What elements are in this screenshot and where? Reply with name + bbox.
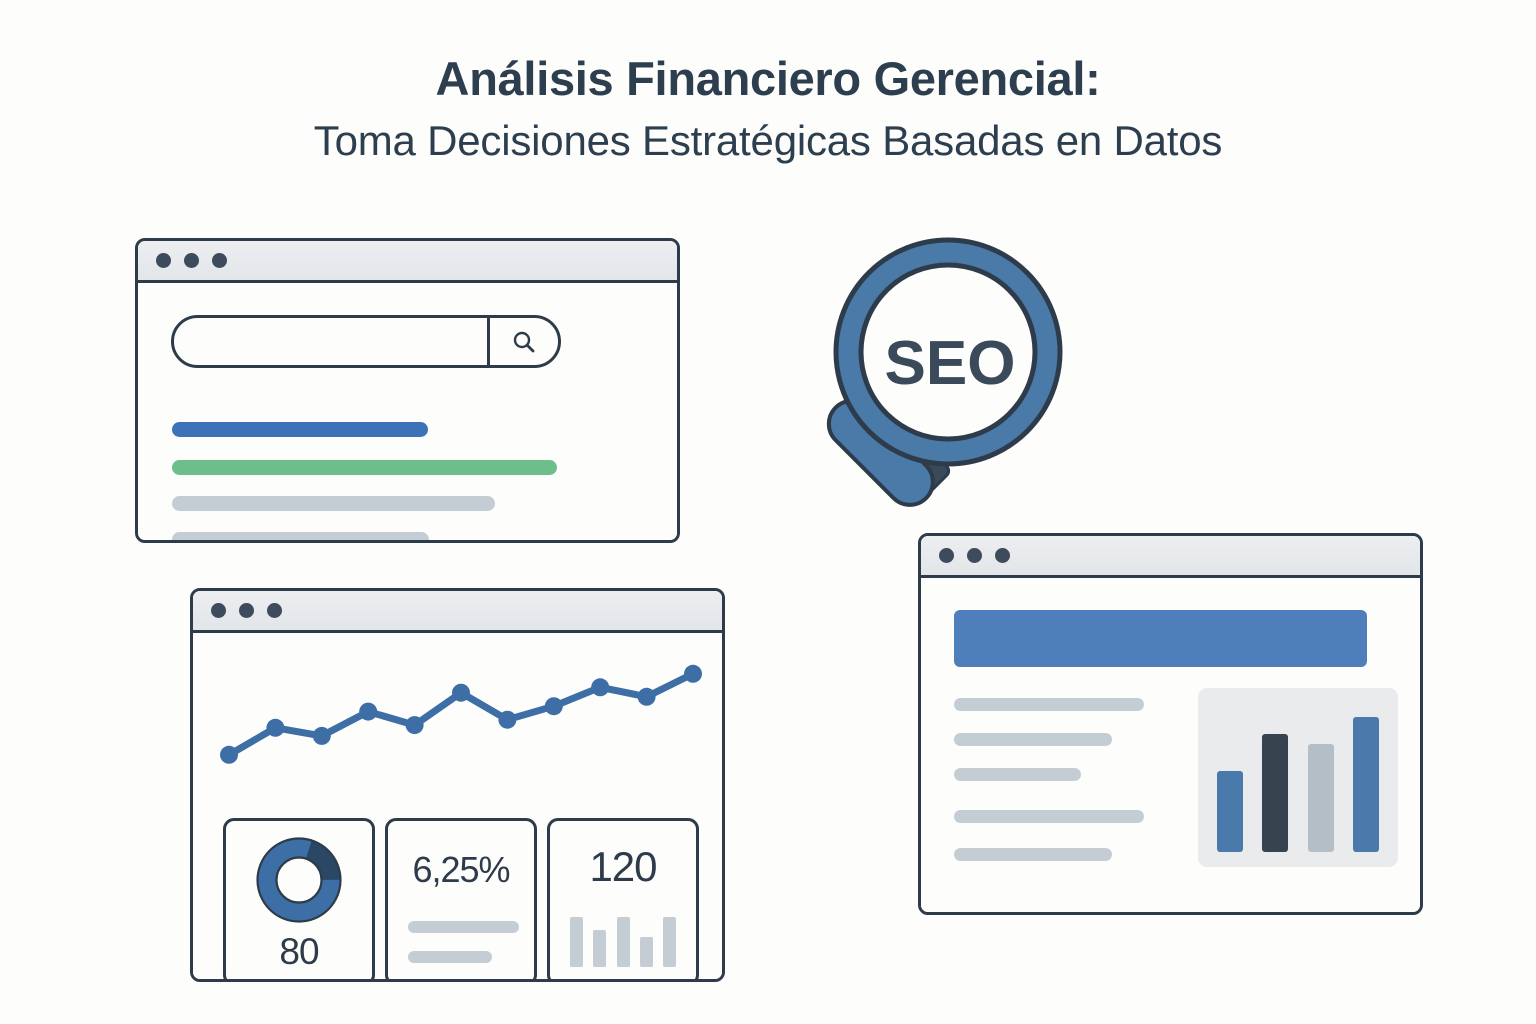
maximize-dot-icon[interactable] xyxy=(212,253,227,268)
count-kpi-value: 120 xyxy=(550,843,696,891)
search-result-bar-secondary[interactable] xyxy=(172,460,557,475)
report-bar xyxy=(1308,744,1334,852)
trend-data-point xyxy=(545,697,563,715)
report-bar xyxy=(1217,771,1243,852)
trend-data-point xyxy=(591,678,609,696)
percent-kpi-placeholder-line-2 xyxy=(408,951,492,963)
search-bar xyxy=(171,315,561,368)
page-title: Análisis Financiero Gerencial: Toma Deci… xyxy=(0,52,1536,169)
report-bar-chart xyxy=(1217,704,1379,852)
trend-data-point xyxy=(684,665,702,683)
report-text-line-2 xyxy=(954,733,1112,746)
count-kpi-card[interactable]: 120 xyxy=(547,818,699,982)
trend-data-point xyxy=(266,719,284,737)
window-titlebar xyxy=(138,241,677,283)
trend-data-point xyxy=(452,684,470,702)
maximize-dot-icon[interactable] xyxy=(995,548,1010,563)
search-submit-button[interactable] xyxy=(490,318,558,365)
analytics-dashboard-browser-window: 80 6,25% 120 xyxy=(190,588,725,982)
donut-icon xyxy=(254,835,344,925)
magnifying-glass-icon xyxy=(775,232,1125,577)
donut-kpi-value: 80 xyxy=(226,931,372,973)
maximize-dot-icon[interactable] xyxy=(267,603,282,618)
trend-data-point xyxy=(406,716,424,734)
minimize-dot-icon[interactable] xyxy=(184,253,199,268)
percent-kpi-placeholder-line-1 xyxy=(408,921,519,933)
kpi-card-row: 80 6,25% 120 xyxy=(223,818,701,982)
sparkline-bar xyxy=(617,917,630,967)
donut-kpi-card[interactable]: 80 xyxy=(223,818,375,982)
window-content xyxy=(921,578,1420,912)
report-text-line-4 xyxy=(954,810,1144,823)
trend-line-chart xyxy=(211,647,711,787)
percent-kpi-card[interactable]: 6,25% xyxy=(385,818,537,982)
window-titlebar xyxy=(921,536,1420,578)
trend-data-point xyxy=(359,703,377,721)
window-titlebar xyxy=(193,591,722,633)
search-results-browser-window xyxy=(135,238,680,543)
sparkline-bar xyxy=(640,937,653,967)
report-bar xyxy=(1353,717,1379,852)
sparkline-bar xyxy=(663,917,676,967)
close-dot-icon[interactable] xyxy=(156,253,171,268)
seo-magnifier-graphic: SEO xyxy=(775,232,1125,577)
search-input[interactable] xyxy=(174,318,490,365)
trend-data-point xyxy=(498,711,516,729)
search-result-bar-placeholder-1 xyxy=(172,496,495,511)
report-browser-window xyxy=(918,533,1423,915)
window-content: 80 6,25% 120 xyxy=(193,633,722,979)
close-dot-icon[interactable] xyxy=(939,548,954,563)
report-bar xyxy=(1262,734,1288,852)
report-text-line-1 xyxy=(954,698,1144,711)
trend-data-point xyxy=(220,746,238,764)
report-text-line-5 xyxy=(954,848,1112,861)
donut-chart xyxy=(254,835,344,925)
sparkline-bar xyxy=(593,930,606,967)
minimize-dot-icon[interactable] xyxy=(239,603,254,618)
page-title-line-1: Análisis Financiero Gerencial: xyxy=(0,52,1536,106)
minimize-dot-icon[interactable] xyxy=(967,548,982,563)
search-result-bar-primary[interactable] xyxy=(172,422,428,437)
search-icon xyxy=(511,329,537,355)
sparkline-mini-bar-chart xyxy=(570,912,676,967)
report-chart-panel xyxy=(1198,688,1398,867)
sparkline-bar xyxy=(570,917,583,967)
trend-data-points xyxy=(220,665,702,764)
percent-kpi-value: 6,25% xyxy=(388,849,534,891)
window-content xyxy=(138,283,677,540)
search-result-bar-placeholder-2 xyxy=(172,532,429,543)
report-text-line-3 xyxy=(954,768,1081,781)
close-dot-icon[interactable] xyxy=(211,603,226,618)
page-title-line-2: Toma Decisiones Estratégicas Basadas en … xyxy=(0,114,1536,169)
trend-data-point xyxy=(638,688,656,706)
report-header-banner xyxy=(954,610,1367,667)
trend-data-point xyxy=(313,727,331,745)
